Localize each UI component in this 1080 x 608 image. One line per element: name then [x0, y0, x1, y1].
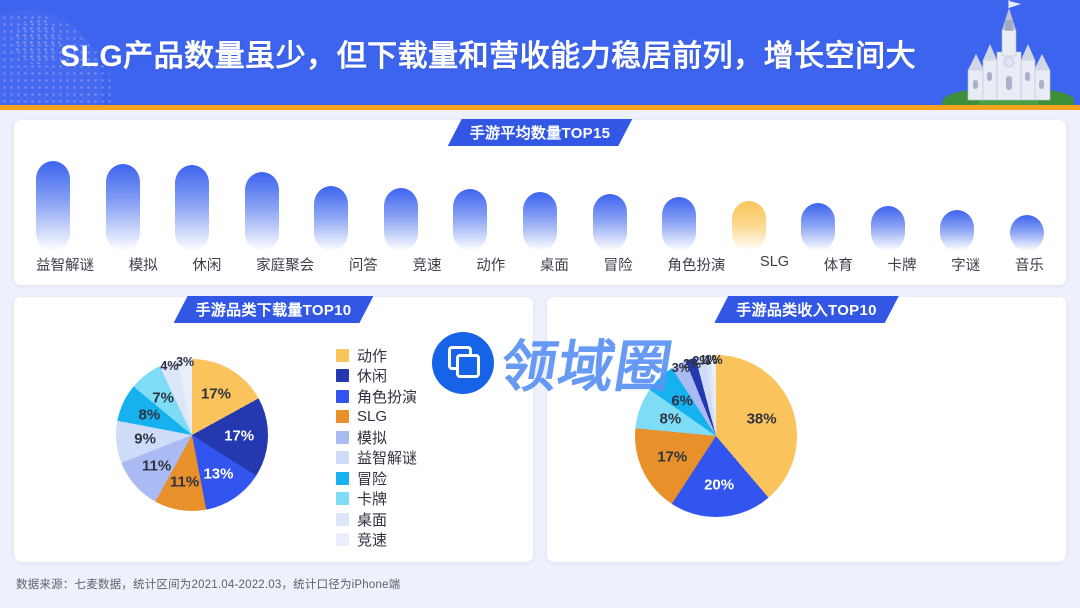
header-banner: SLG产品数量虽少，但下载量和营收能力稳居前列，增长空间大 [0, 0, 1080, 105]
pie-value-label-休闲: 17% [224, 428, 254, 445]
downloads-pie-card: 手游品类下载量TOP10 动作休闲角色扮演SLG模拟益智解谜冒险卡牌桌面竞速 1… [14, 297, 533, 562]
pie-value-label-SLG: 11% [170, 473, 199, 490]
bar-益智解谜 [36, 161, 70, 251]
legend-item-SLG[interactable]: SLG [336, 407, 417, 428]
legend-swatch-icon [336, 533, 349, 546]
bar-label-冒险: 冒险 [604, 254, 633, 275]
bar-column [314, 156, 348, 251]
source-note: 数据来源：七麦数据，统计区间为2021.04-2022.03，统计口径为iPho… [16, 576, 400, 592]
bar-字谜 [940, 210, 974, 251]
bar-label-模拟: 模拟 [129, 254, 158, 275]
bar-label-家庭聚会: 家庭聚会 [256, 254, 314, 275]
bar-column [175, 156, 209, 251]
bar-column [662, 156, 696, 251]
bar-问答 [314, 186, 348, 251]
bar-冒险 [593, 194, 627, 251]
pie-value-label-竞速: 3% [176, 355, 194, 369]
bar-column [801, 156, 835, 251]
bar-column [871, 156, 905, 251]
bar-label-音乐: 音乐 [1015, 254, 1044, 275]
pie-value-label-角色扮演: 13% [203, 465, 233, 482]
bar-体育 [801, 203, 835, 251]
legend-label: 竞速 [357, 529, 387, 550]
legend-item-卡牌[interactable]: 卡牌 [336, 489, 417, 510]
bar-动作 [453, 189, 487, 251]
legend-label: 卡牌 [357, 488, 387, 509]
header-divider-rule [0, 105, 1080, 110]
bar-角色扮演 [662, 197, 696, 251]
bar-column [453, 156, 487, 251]
pie-value-label-模拟: 11% [142, 458, 171, 475]
bar-column [384, 156, 418, 251]
legend-item-益智解谜[interactable]: 益智解谜 [336, 448, 417, 469]
bar-chart-card: 手游平均数量TOP15 益智解谜模拟休闲家庭聚会问答竞速动作桌面冒险角色扮演SL… [14, 120, 1066, 285]
bar-模拟 [106, 164, 140, 251]
revenue-title-ribbon: 手游品类收入TOP10 [714, 296, 899, 323]
legend-label: 模拟 [357, 427, 387, 448]
legend-label: SLG [357, 408, 387, 425]
bar-SLG [732, 201, 766, 251]
bar-家庭聚会 [245, 172, 279, 251]
legend-item-竞速[interactable]: 竞速 [336, 530, 417, 551]
legend-swatch-icon [336, 349, 349, 362]
pie-value-label-体育: 1% [705, 353, 723, 367]
legend-swatch-icon [336, 492, 349, 505]
page-title: SLG产品数量虽少，但下载量和营收能力稳居前列，增长空间大 [60, 0, 916, 105]
revenue-pie-card: 手游品类收入TOP10 动作角色扮演SLG卡牌冒险模拟休闲益智解谜桌面体育 38… [547, 297, 1066, 562]
legend-item-角色扮演[interactable]: 角色扮演 [336, 386, 417, 407]
bar-label-问答: 问答 [349, 254, 378, 275]
legend-item-模拟[interactable]: 模拟 [336, 427, 417, 448]
legend-label: 益智解谜 [357, 447, 417, 468]
bar-column [593, 156, 627, 251]
legend-swatch-icon [336, 390, 349, 403]
legend-item-冒险[interactable]: 冒险 [336, 468, 417, 489]
legend-swatch-icon [336, 513, 349, 526]
legend-label: 休闲 [357, 365, 387, 386]
bar-竞速 [384, 188, 418, 251]
legend-item-休闲[interactable]: 休闲 [336, 366, 417, 387]
dotted-circle-decoration-small [14, 18, 60, 64]
bar-音乐 [1010, 215, 1044, 251]
bar-chart-plot [36, 156, 1044, 251]
pie-value-label-益智解谜: 9% [134, 431, 156, 448]
bar-column [1010, 156, 1044, 251]
pie-value-label-冒险: 6% [671, 393, 693, 410]
bar-label-动作: 动作 [476, 254, 505, 275]
bar-column [523, 156, 557, 251]
bar-column [106, 156, 140, 251]
bar-chart-title-ribbon: 手游平均数量TOP15 [448, 119, 633, 146]
castle-icon [942, 0, 1074, 105]
pie-value-label-冒险: 8% [139, 406, 161, 423]
bar-label-桌面: 桌面 [540, 254, 569, 275]
legend-item-桌面[interactable]: 桌面 [336, 509, 417, 530]
legend-swatch-icon [336, 472, 349, 485]
pie-value-label-动作: 38% [747, 411, 777, 428]
bar-column [245, 156, 279, 251]
bar-chart-axis-labels: 益智解谜模拟休闲家庭聚会问答竞速动作桌面冒险角色扮演SLG体育卡牌字谜音乐 [36, 248, 1044, 275]
legend-swatch-icon [336, 369, 349, 382]
bar-label-卡牌: 卡牌 [887, 254, 916, 275]
bar-label-角色扮演: 角色扮演 [667, 254, 725, 275]
pie-value-label-SLG: 17% [657, 449, 687, 466]
bar-label-益智解谜: 益智解谜 [36, 254, 94, 275]
legend-label: 冒险 [357, 468, 387, 489]
downloads-title-ribbon: 手游品类下载量TOP10 [174, 296, 374, 323]
pie-value-label-角色扮演: 20% [704, 476, 734, 493]
bar-label-SLG: SLG [760, 254, 789, 275]
bar-label-体育: 体育 [824, 254, 853, 275]
pie-value-label-卡牌: 8% [660, 411, 682, 428]
legend-swatch-icon [336, 410, 349, 423]
bar-卡牌 [871, 206, 905, 251]
slide-root: SLG产品数量虽少，但下载量和营收能力稳居前列，增长空间大 [0, 0, 1080, 608]
pie-value-label-动作: 17% [201, 386, 231, 403]
legend-swatch-icon [336, 451, 349, 464]
downloads-legend: 动作休闲角色扮演SLG模拟益智解谜冒险卡牌桌面竞速 [336, 345, 417, 550]
pie-value-label-卡牌: 7% [152, 389, 174, 406]
legend-item-动作[interactable]: 动作 [336, 345, 417, 366]
bar-label-休闲: 休闲 [192, 254, 221, 275]
bar-column [940, 156, 974, 251]
bar-桌面 [523, 192, 557, 251]
legend-label: 角色扮演 [357, 386, 417, 407]
bar-label-竞速: 竞速 [413, 254, 442, 275]
legend-label: 桌面 [357, 509, 387, 530]
legend-swatch-icon [336, 431, 349, 444]
legend-label: 动作 [357, 345, 387, 366]
bar-label-字谜: 字谜 [951, 254, 980, 275]
bar-column [732, 156, 766, 251]
bar-休闲 [175, 165, 209, 251]
bar-column [36, 156, 70, 251]
